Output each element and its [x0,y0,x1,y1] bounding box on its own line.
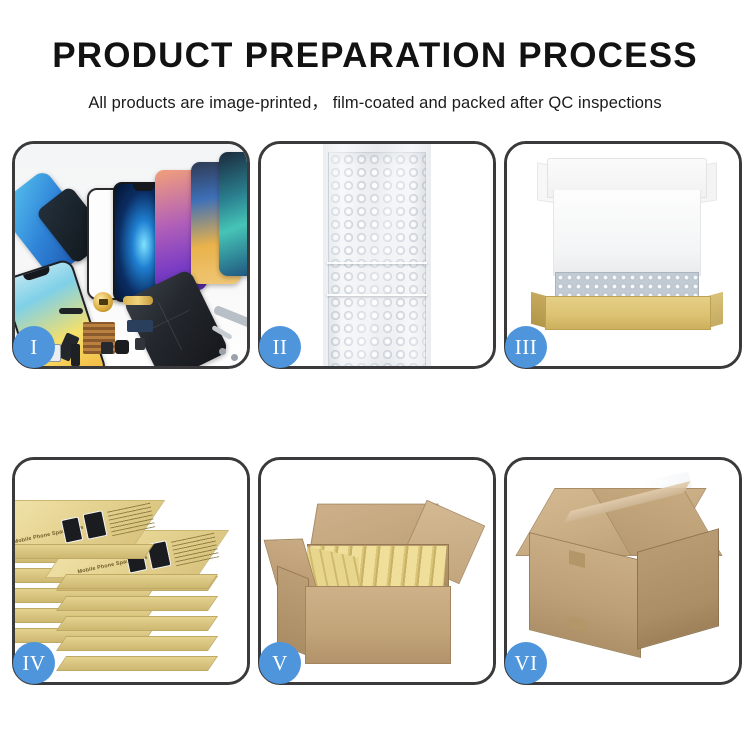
box-front-panel [545,296,711,330]
carton-front-panel [305,586,451,664]
page-title: PRODUCT PREPARATION PROCESS [0,38,750,73]
part-flex-connector [127,320,153,332]
step-panel-1: I [12,141,250,369]
step-panel-3: III [504,141,742,369]
part-speaker-mesh [59,308,83,314]
part-chip [101,342,113,354]
part-tweezers [213,305,247,328]
step-panel-5: V [258,457,496,685]
part-screw [231,354,238,361]
phone-screen-teal [219,152,247,276]
step-panel-2: II [258,141,496,369]
phone-notch-icon [23,267,50,282]
header: PRODUCT PREPARATION PROCESS All products… [0,0,750,113]
step-panel-4: Mobile Phone Spare Parts Mobile Phone Sp… [12,457,250,685]
part-sim-tray [135,338,145,350]
bubble-wrap-seam [327,294,427,296]
part-earpiece [115,340,129,354]
step-badge-6: VI [505,642,547,684]
steps-grid: I II III [12,141,738,685]
part-screw [219,348,226,355]
step-badge-3: III [505,326,547,368]
step-badge-1: I [13,326,55,368]
part-vibration-motor [93,292,113,312]
part-gold-flex-cable [123,296,153,305]
product-preparation-infographic: PRODUCT PREPARATION PROCESS All products… [0,0,750,750]
step-badge-4: IV [13,642,55,684]
bubble-wrap-seam [327,262,427,264]
part-antenna-strip [71,344,80,366]
step-badge-5: V [259,642,301,684]
bubble-wrap-sheen [329,152,425,366]
step-panel-6: VI [504,457,742,685]
page-subtitle: All products are image-printed， film-coa… [0,89,750,113]
phone-notch-icon [133,184,155,191]
step-badge-2: II [259,326,301,368]
box-inner-wall [553,190,701,276]
